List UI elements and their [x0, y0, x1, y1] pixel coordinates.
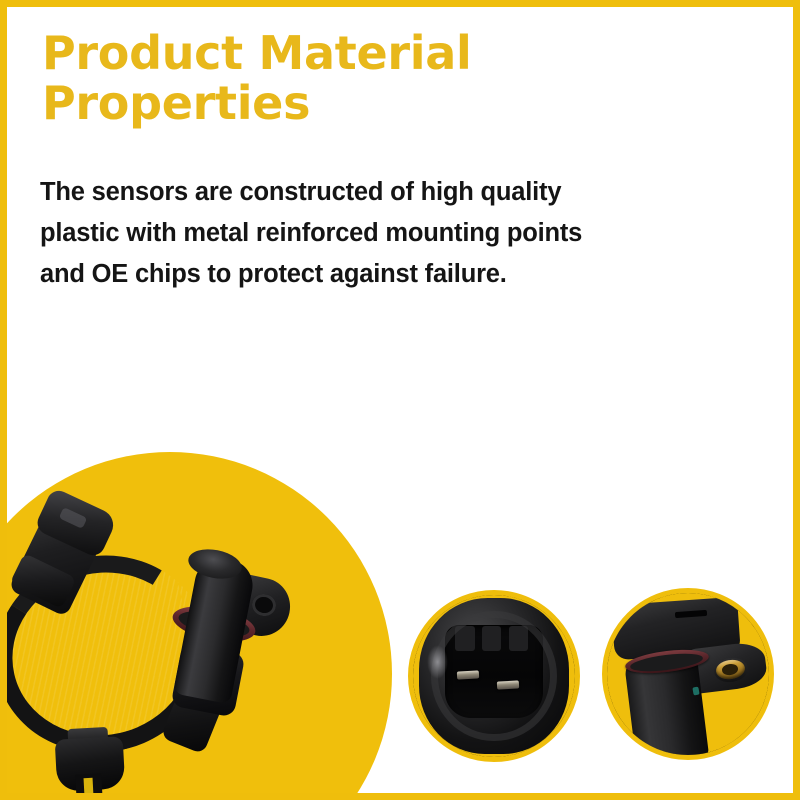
detail-circle-mounting-point	[602, 588, 774, 760]
hero-product-image	[0, 452, 392, 800]
connector-lip	[431, 611, 556, 742]
description-text: The sensors are constructed of high qual…	[40, 172, 720, 295]
cable-clip-slot	[84, 778, 94, 796]
connector-housing	[419, 598, 568, 754]
page-title: Product Material Properties	[42, 28, 702, 128]
product-feature-card: Product Material Properties The sensors …	[0, 0, 800, 800]
connector-highlight	[427, 645, 448, 679]
detail-circle-connector-socket	[408, 590, 580, 762]
